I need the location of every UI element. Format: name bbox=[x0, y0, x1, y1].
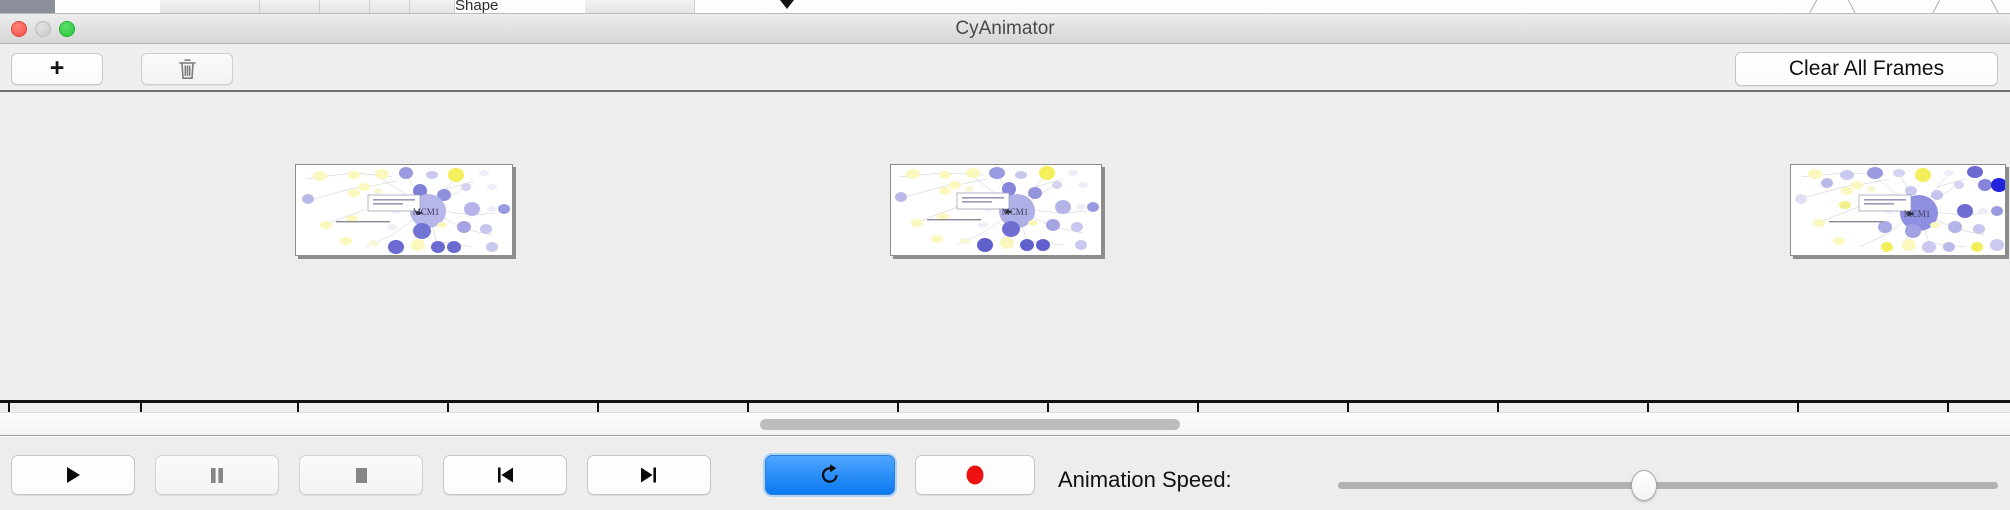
axis-tick-minor bbox=[447, 403, 449, 412]
axis-tick-major bbox=[597, 403, 599, 412]
background-panel-segment bbox=[320, 0, 370, 14]
skip-to-end-button[interactable] bbox=[587, 455, 711, 495]
axis-tick-minor bbox=[747, 403, 749, 412]
keyframe-thumbnail[interactable]: MCM1 bbox=[295, 164, 513, 256]
axis-tick-major bbox=[1497, 403, 1499, 412]
background-caret-icon bbox=[780, 0, 794, 9]
delete-frame-button[interactable] bbox=[141, 53, 233, 85]
skip-end-icon bbox=[637, 464, 661, 486]
axis-tick-major bbox=[1797, 403, 1799, 412]
background-panel-segment bbox=[410, 0, 455, 14]
axis-tick-major bbox=[297, 403, 299, 412]
animation-speed-label: Animation Speed: bbox=[1058, 467, 1232, 493]
background-window-strip: Shape bbox=[0, 0, 2010, 14]
record-button[interactable] bbox=[915, 455, 1035, 495]
loop-button[interactable] bbox=[765, 455, 895, 495]
toolbar: + Clear All Frames bbox=[0, 44, 2010, 91]
clear-all-frames-label: Clear All Frames bbox=[1789, 57, 1944, 81]
pause-button[interactable] bbox=[155, 455, 279, 495]
background-decoration bbox=[1930, 0, 1940, 14]
playback-control-bar: Animation Speed: bbox=[0, 437, 2010, 510]
background-window-titlebar bbox=[0, 0, 55, 13]
window-title: CyAnimator bbox=[0, 14, 2010, 44]
play-icon bbox=[62, 464, 84, 486]
animation-speed-slider[interactable] bbox=[1338, 482, 1998, 489]
timeline-scrollbar[interactable] bbox=[0, 412, 2010, 436]
clear-all-frames-button[interactable]: Clear All Frames bbox=[1735, 52, 1998, 86]
title-bar: CyAnimator bbox=[0, 14, 2010, 44]
axis-tick-minor bbox=[1347, 403, 1349, 412]
pause-icon bbox=[207, 464, 227, 486]
axis-tick-major bbox=[1197, 403, 1199, 412]
background-panel-segment bbox=[585, 0, 695, 14]
stop-button[interactable] bbox=[299, 455, 423, 495]
trash-icon bbox=[178, 58, 197, 80]
plus-icon: + bbox=[50, 56, 65, 81]
axis-tick-major bbox=[897, 403, 899, 412]
add-frame-button[interactable]: + bbox=[11, 53, 103, 85]
timeline-panel[interactable]: MCM1 bbox=[0, 92, 2010, 412]
axis-tick-minor bbox=[140, 403, 142, 412]
skip-to-start-button[interactable] bbox=[443, 455, 567, 495]
record-icon bbox=[964, 463, 986, 487]
axis-tick-minor bbox=[1947, 403, 1949, 412]
loop-icon bbox=[817, 462, 843, 488]
stop-icon bbox=[351, 464, 371, 486]
skip-start-icon bbox=[493, 464, 517, 486]
background-panel-segment bbox=[160, 0, 260, 14]
axis-tick-minor bbox=[1047, 403, 1049, 412]
background-window-label: Shape bbox=[455, 0, 498, 14]
background-panel-segment bbox=[260, 0, 320, 14]
background-decoration bbox=[1990, 0, 2000, 14]
background-decoration bbox=[1847, 0, 1857, 14]
axis-tick-minor bbox=[1647, 403, 1649, 412]
play-button[interactable] bbox=[11, 455, 135, 495]
animation-speed-slider-knob[interactable] bbox=[1631, 470, 1657, 501]
axis-tick-major bbox=[8, 403, 10, 412]
background-panel-segment bbox=[370, 0, 410, 14]
scrollbar-thumb[interactable] bbox=[760, 419, 1180, 430]
keyframe-thumbnail[interactable]: MCM1 bbox=[890, 164, 1102, 256]
timeline-axis bbox=[0, 400, 2010, 403]
background-decoration bbox=[1807, 0, 1817, 14]
keyframe-thumbnail[interactable]: MCM1 bbox=[1790, 164, 2006, 256]
cyanimator-window: Shape CyAnimator + Clear All Frames bbox=[0, 0, 2010, 510]
